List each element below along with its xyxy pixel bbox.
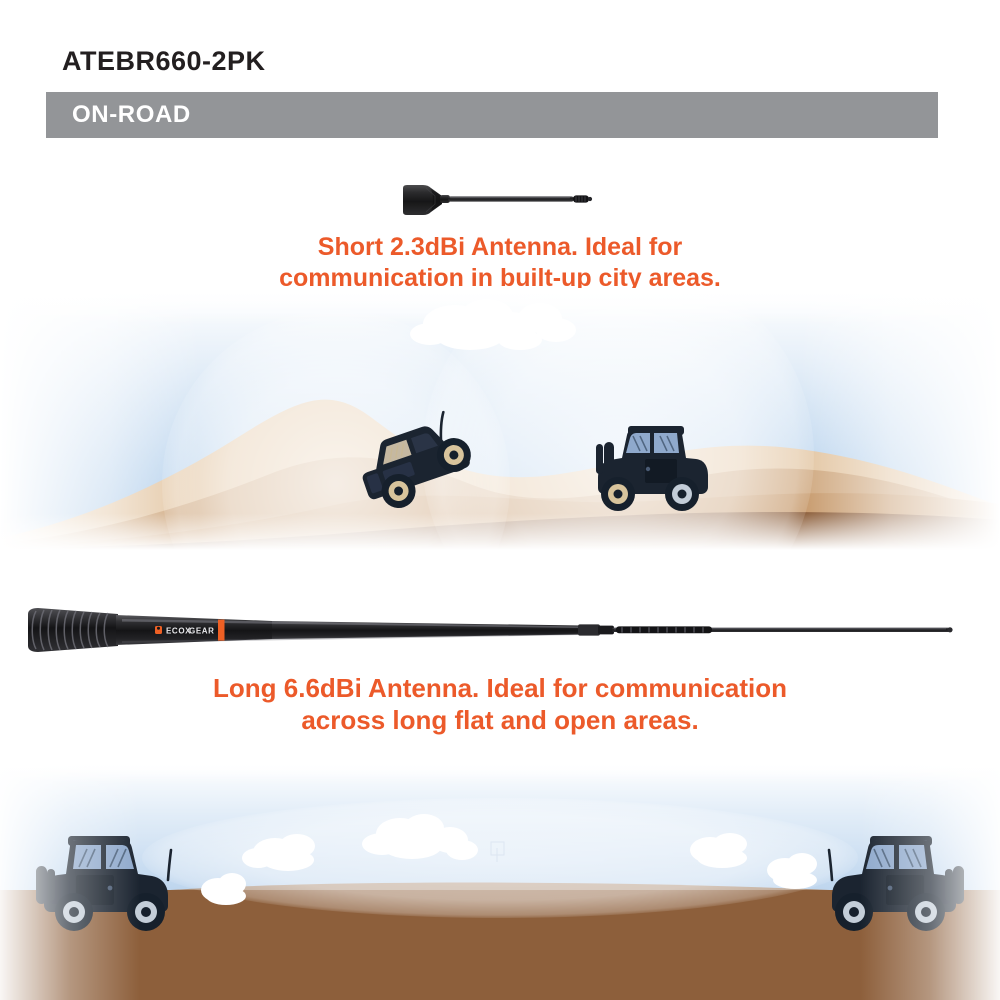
- off-road-scene: [0, 762, 1000, 1000]
- brand-logo-icon: [155, 626, 162, 634]
- svg-text:ECOX: ECOX: [166, 626, 191, 635]
- on-road-scene: [0, 288, 1000, 550]
- orange-band: [218, 620, 225, 641]
- long-caption-line-2: across long flat and open areas.: [180, 705, 820, 737]
- long-antenna-image: ECOX GEAR: [22, 600, 962, 660]
- short-antenna-image: [390, 178, 605, 220]
- long-antenna-caption: Long 6.6dBi Antenna. Ideal for communica…: [180, 673, 820, 736]
- short-antenna-caption: Short 2.3dBi Antenna. Ideal for communic…: [250, 232, 750, 293]
- long-caption-line-1: Long 6.6dBi Antenna. Ideal for communica…: [180, 673, 820, 705]
- infographic-page: ATEBR660-2PK ON-ROAD: [0, 0, 1000, 1000]
- svg-text:GEAR: GEAR: [189, 626, 215, 635]
- category-label: ON-ROAD: [72, 101, 191, 129]
- page-title: ATEBR660-2PK: [62, 46, 266, 77]
- short-caption-line-1: Short 2.3dBi Antenna. Ideal for: [250, 232, 750, 263]
